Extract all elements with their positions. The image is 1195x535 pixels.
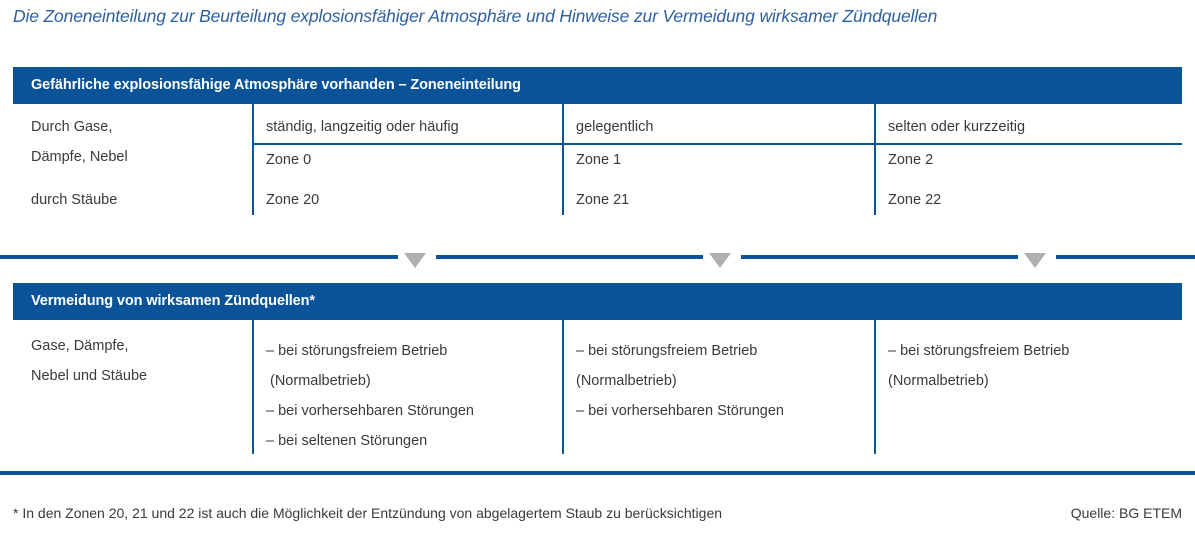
list-item: – bei seltenen Störungen — [266, 426, 474, 456]
table2-body: Gase, Dämpfe, Nebel und Stäube – bei stö… — [13, 320, 1182, 454]
list-item: – bei störungsfreiem Betrieb — [888, 336, 1069, 366]
zone-dust-value: Zone 21 — [576, 192, 629, 208]
measure-list: – bei störungsfreiem Betrieb (Normalbetr… — [888, 336, 1069, 396]
triangle-down-icon — [1024, 253, 1046, 268]
label-media-line2: Nebel und Stäube — [31, 368, 147, 384]
zone-dust-value: Zone 20 — [266, 192, 319, 208]
table1-column-zone2: selten oder kurzzeitig Zone 2 Zone 22 — [874, 104, 1182, 215]
source-credit: Quelle: BG ETEM — [1071, 505, 1182, 521]
cell-divider — [564, 143, 874, 145]
label-gases-line2: Dämpfe, Nebel — [31, 149, 128, 165]
zone-gas-value: Zone 0 — [266, 152, 311, 168]
list-item: – bei vorhersehbaren Störungen — [266, 396, 474, 426]
list-item: (Normalbetrieb) — [888, 366, 1069, 396]
frequency-label: gelegentlich — [576, 119, 653, 135]
list-item: – bei störungsfreiem Betrieb — [576, 336, 784, 366]
table1-column-zone0: ständig, langzeitig oder häufig Zone 0 Z… — [252, 104, 562, 215]
triangle-down-icon — [709, 253, 731, 268]
ignition-source-avoidance-table: Vermeidung von wirksamen Zündquellen* Ga… — [13, 283, 1182, 454]
table1-bottom-rule — [0, 255, 1195, 259]
list-item: (Normalbetrieb) — [576, 366, 784, 396]
measure-list: – bei störungsfreiem Betrieb (Normalbetr… — [576, 336, 784, 426]
zone-classification-table: Gefährliche explosionsfähige Atmosphäre … — [13, 67, 1182, 215]
label-gases-line1: Durch Gase, — [31, 119, 112, 135]
table2-bottom-rule — [0, 471, 1195, 475]
table2-label-column: Gase, Dämpfe, Nebel und Stäube — [13, 320, 252, 454]
zone-gas-value: Zone 1 — [576, 152, 621, 168]
cell-divider — [876, 143, 1182, 145]
triangle-down-icon — [404, 253, 426, 268]
table1-header: Gefährliche explosionsfähige Atmosphäre … — [13, 67, 1182, 104]
table2-header: Vermeidung von wirksamen Zündquellen* — [13, 283, 1182, 320]
table1-body: Durch Gase, Dämpfe, Nebel durch Stäube s… — [13, 104, 1182, 215]
table2-column-zone1: – bei störungsfreiem Betrieb (Normalbetr… — [562, 320, 874, 454]
label-media-line1: Gase, Dämpfe, — [31, 338, 129, 354]
label-dusts: durch Stäube — [31, 192, 117, 208]
zone-gas-value: Zone 2 — [888, 152, 933, 168]
frequency-label: selten oder kurzzeitig — [888, 119, 1025, 135]
table2-column-zone0: – bei störungsfreiem Betrieb (Normalbetr… — [252, 320, 562, 454]
list-item: (Normalbetrieb) — [266, 366, 474, 396]
table1-column-zone1: gelegentlich Zone 1 Zone 21 — [562, 104, 874, 215]
cell-divider — [254, 143, 562, 145]
measure-list: – bei störungsfreiem Betrieb (Normalbetr… — [266, 336, 474, 456]
table2-column-zone2: – bei störungsfreiem Betrieb (Normalbetr… — [874, 320, 1182, 454]
page-title: Die Zoneneinteilung zur Beurteilung expl… — [13, 6, 1188, 27]
list-item: – bei störungsfreiem Betrieb — [266, 336, 474, 366]
zone-dust-value: Zone 22 — [888, 192, 941, 208]
footnote: * In den Zonen 20, 21 und 22 ist auch di… — [13, 505, 722, 521]
frequency-label: ständig, langzeitig oder häufig — [266, 119, 459, 135]
list-item: – bei vorhersehbaren Störungen — [576, 396, 784, 426]
table1-label-column: Durch Gase, Dämpfe, Nebel durch Stäube — [13, 104, 252, 215]
